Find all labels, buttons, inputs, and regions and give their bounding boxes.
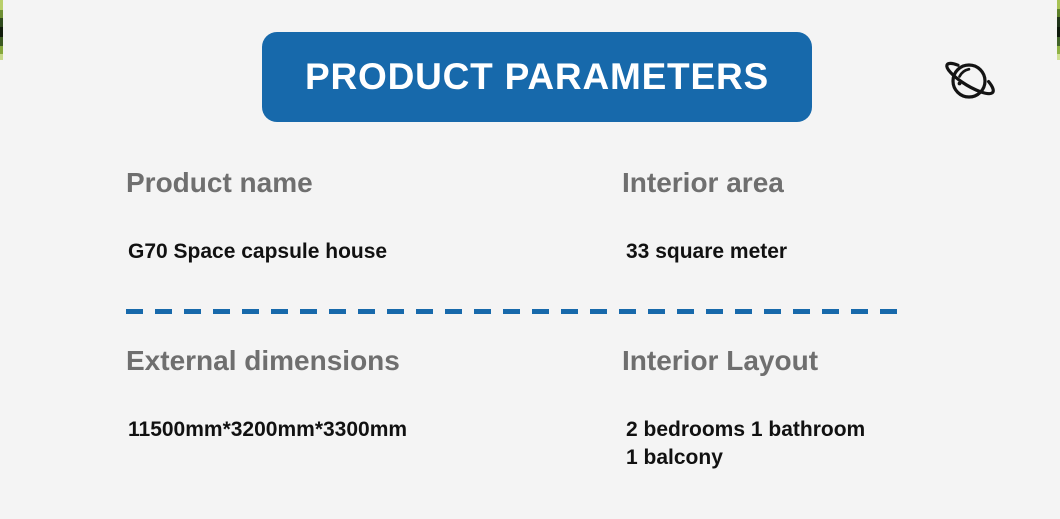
spec-label: Product name bbox=[126, 166, 612, 200]
spec-label: External dimensions bbox=[126, 344, 612, 378]
spec-value: 33 square meter bbox=[622, 238, 926, 266]
spec-label: Interior area bbox=[622, 166, 926, 200]
spec-cell-external-dimensions: External dimensions 11500mm*3200mm*3300m… bbox=[126, 344, 622, 472]
left-edge-image-sliver bbox=[0, 0, 3, 60]
spec-row-2: External dimensions 11500mm*3200mm*3300m… bbox=[126, 344, 926, 472]
spec-value-line: 11500mm*3200mm*3300mm bbox=[128, 416, 612, 444]
spec-label: Interior Layout bbox=[622, 344, 926, 378]
spec-value-line: 1 balcony bbox=[626, 444, 926, 472]
spec-row-1: Product name G70 Space capsule house Int… bbox=[126, 166, 926, 266]
saturn-planet-icon bbox=[942, 52, 998, 108]
spec-value: 11500mm*3200mm*3300mm bbox=[126, 416, 612, 444]
spec-cell-interior-layout: Interior Layout 2 bedrooms 1 bathroom 1 … bbox=[622, 344, 926, 472]
page-title-badge: PRODUCT PARAMETERS bbox=[262, 32, 812, 122]
spec-value-line: 33 square meter bbox=[626, 238, 926, 266]
spec-cell-interior-area: Interior area 33 square meter bbox=[622, 166, 926, 266]
spec-value: 2 bedrooms 1 bathroom 1 balcony bbox=[622, 416, 926, 472]
spec-value-line: G70 Space capsule house bbox=[128, 238, 612, 266]
spec-cell-product-name: Product name G70 Space capsule house bbox=[126, 166, 622, 266]
spec-value: G70 Space capsule house bbox=[126, 238, 612, 266]
dashed-divider bbox=[126, 309, 903, 314]
spec-value-line: 2 bedrooms 1 bathroom bbox=[626, 416, 926, 444]
product-parameters-page: PRODUCT PARAMETERS Product name G70 Spac… bbox=[0, 0, 1060, 519]
page-title: PRODUCT PARAMETERS bbox=[305, 56, 769, 98]
